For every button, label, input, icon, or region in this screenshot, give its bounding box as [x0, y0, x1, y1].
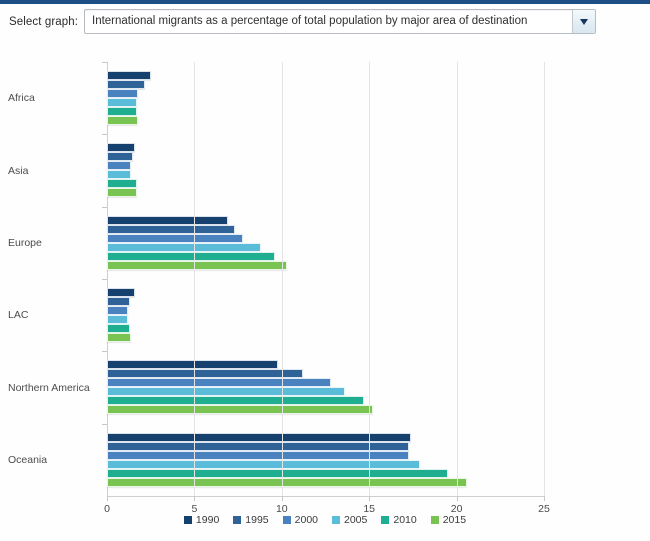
bar[interactable]	[107, 306, 128, 315]
bar[interactable]	[107, 478, 467, 487]
bar[interactable]	[107, 80, 145, 89]
bar[interactable]	[107, 107, 137, 116]
bar[interactable]	[107, 369, 303, 378]
legend-swatch	[381, 516, 389, 524]
legend-swatch	[283, 516, 291, 524]
legend-item[interactable]: 2000	[283, 514, 318, 526]
x-tick-mark	[457, 496, 458, 501]
bar[interactable]	[107, 333, 131, 342]
legend-label: 2010	[393, 514, 416, 526]
bar-group	[107, 279, 544, 351]
legend-item[interactable]: 2005	[332, 514, 367, 526]
legend-swatch	[332, 516, 340, 524]
bar[interactable]	[107, 143, 135, 152]
legend-label: 2015	[443, 514, 466, 526]
bar[interactable]	[107, 469, 448, 478]
bar[interactable]	[107, 89, 138, 98]
y-tick-mark	[102, 279, 107, 280]
select-graph-label: Select graph:	[9, 16, 78, 28]
x-tick-mark	[194, 496, 195, 501]
legend-item[interactable]: 2015	[431, 514, 466, 526]
gridline	[282, 62, 283, 496]
bar[interactable]	[107, 243, 261, 252]
bar[interactable]	[107, 234, 243, 243]
bar[interactable]	[107, 161, 131, 170]
x-tick-mark	[544, 496, 545, 501]
legend-item[interactable]: 2010	[381, 514, 416, 526]
y-tick-mark	[102, 424, 107, 425]
bar[interactable]	[107, 261, 287, 270]
bar[interactable]	[107, 188, 137, 197]
bar-group	[107, 62, 544, 134]
bar[interactable]	[107, 460, 420, 469]
y-tick-mark	[102, 207, 107, 208]
category-label: Oceania	[8, 454, 47, 466]
chevron-down-icon[interactable]	[572, 10, 595, 33]
x-axis-line	[107, 496, 545, 497]
bar[interactable]	[107, 152, 133, 161]
gridline	[457, 62, 458, 496]
legend-swatch	[184, 516, 192, 524]
bar[interactable]	[107, 433, 411, 442]
bar[interactable]	[107, 252, 275, 261]
bar[interactable]	[107, 324, 130, 333]
y-tick-mark	[102, 134, 107, 135]
bar-group	[107, 134, 544, 206]
gridline	[369, 62, 370, 496]
x-tick-mark	[107, 496, 108, 501]
legend-label: 2005	[344, 514, 367, 526]
bar[interactable]	[107, 288, 135, 297]
bar-group	[107, 424, 544, 496]
category-label: Asia	[8, 165, 28, 177]
y-tick-mark	[102, 62, 107, 63]
bar[interactable]	[107, 116, 138, 125]
graph-selector-bar: Select graph: International migrants as …	[0, 6, 650, 40]
legend-label: 2000	[295, 514, 318, 526]
bar[interactable]	[107, 378, 331, 387]
legend-item[interactable]: 1990	[184, 514, 219, 526]
bar[interactable]	[107, 216, 228, 225]
bar-chart: 0510152025 AfricaAsiaEuropeLACNorthern A…	[0, 44, 650, 541]
bar[interactable]	[107, 396, 364, 405]
chart-legend: 199019952000200520102015	[0, 514, 650, 526]
category-label: Northern America	[8, 382, 90, 394]
bar[interactable]	[107, 387, 345, 396]
bar[interactable]	[107, 179, 137, 188]
category-label: LAC	[8, 309, 28, 321]
bar[interactable]	[107, 315, 128, 324]
bar[interactable]	[107, 442, 409, 451]
legend-label: 1990	[196, 514, 219, 526]
category-label: Europe	[8, 237, 42, 249]
legend-label: 1995	[245, 514, 268, 526]
bar[interactable]	[107, 297, 130, 306]
bar[interactable]	[107, 405, 373, 414]
bar[interactable]	[107, 170, 131, 179]
migrant-graph-viewer: Select graph: International migrants as …	[0, 0, 650, 541]
bar[interactable]	[107, 71, 151, 80]
y-tick-mark	[102, 351, 107, 352]
chevron-down-glyph	[580, 19, 588, 25]
gridline	[194, 62, 195, 496]
legend-item[interactable]: 1995	[233, 514, 268, 526]
x-tick-mark	[282, 496, 283, 501]
legend-swatch	[431, 516, 439, 524]
gridline	[544, 62, 545, 496]
graph-select[interactable]: International migrants as a percentage o…	[84, 9, 596, 34]
bar[interactable]	[107, 225, 235, 234]
graph-select-value: International migrants as a percentage o…	[92, 15, 565, 27]
bar-group	[107, 351, 544, 423]
bar[interactable]	[107, 451, 409, 460]
x-tick-mark	[369, 496, 370, 501]
legend-swatch	[233, 516, 241, 524]
bar-group	[107, 207, 544, 279]
bar[interactable]	[107, 98, 137, 107]
category-label: Africa	[8, 92, 35, 104]
plot-area	[107, 62, 544, 496]
bar[interactable]	[107, 360, 278, 369]
